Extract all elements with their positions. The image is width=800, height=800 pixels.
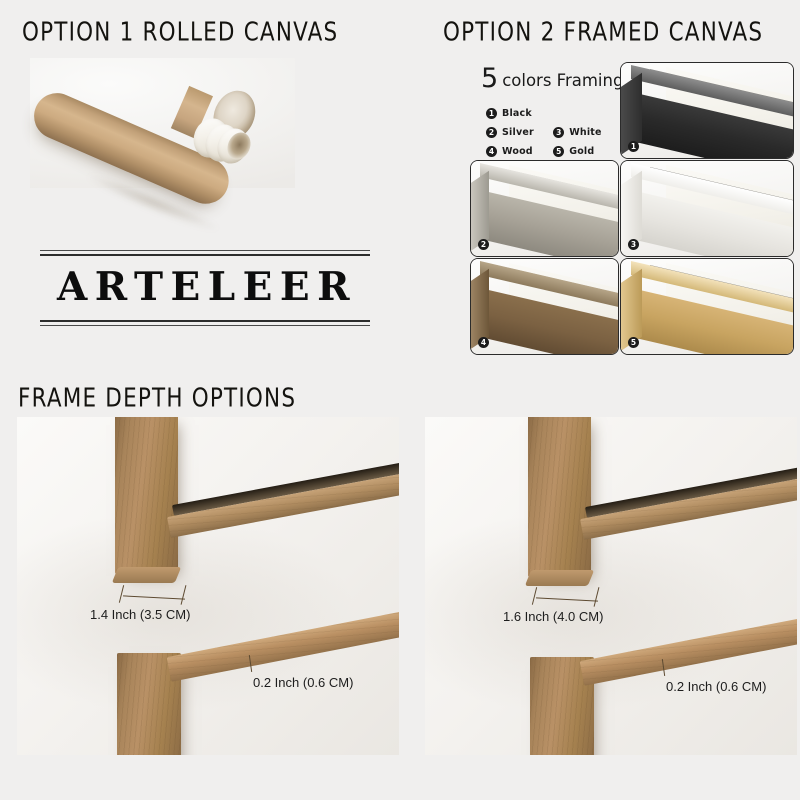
swatch-badge: 5 [628,337,639,348]
frame-corner-illustration [621,161,793,256]
legend-label: Silver [502,127,534,138]
frame-color-legend: 1 Black 2 Silver 3 White 4 Wood 5 Gold [486,108,611,157]
vertical-frame-bar [528,417,591,577]
brand-logo-block: ARTELEER [40,250,370,326]
rail-depth-label-1: 0.2 Inch (0.6 CM) [253,675,353,690]
legend-badge: 4 [486,146,497,157]
legend-item-silver: 2 Silver [486,127,543,138]
frame-swatch-wood[interactable]: 4 [470,258,619,355]
frame-swatch-gold[interactable]: 5 [620,258,794,355]
option2-heading: OPTION 2 FRAMED CANVAS [443,18,763,48]
swatch-badge: 4 [478,337,489,348]
rolled-canvas-photo [30,58,295,188]
vertical-frame-bar [115,417,178,574]
frame-swatch-silver[interactable]: 2 [470,160,619,257]
legend-label: Black [502,108,532,119]
legend-item-wood: 4 Wood [486,146,543,157]
framing-colors-title: 5colors Framing [481,63,623,94]
framing-count: 5 [481,63,498,94]
frame-depth-photo-1: 1.4 Inch (3.5 CM) 0.2 Inch (0.6 CM) [17,417,399,755]
swatch-badge: 2 [478,239,489,250]
legend-item-white: 3 White [553,127,611,138]
legend-badge: 3 [553,127,564,138]
frame-depth-label-2: 1.6 Inch (4.0 CM) [503,609,603,624]
legend-badge: 1 [486,108,497,119]
option1-heading: OPTION 1 ROLLED CANVAS [22,18,338,48]
frame-corner-illustration [471,259,618,354]
brand-wordmark: ARTELEER [40,256,370,320]
legend-label: White [569,127,601,138]
frame-swatch-white[interactable]: 3 [620,160,794,257]
frame-depth-label-1: 1.4 Inch (3.5 CM) [90,607,190,622]
frame-corner-illustration [471,161,618,256]
legend-item-black: 1 Black [486,108,611,119]
frame-corner-illustration [621,63,793,158]
frame-swatch-black[interactable]: 1 [620,62,794,159]
logo-rule-bottom [40,320,370,326]
rail-depth-label-2: 0.2 Inch (0.6 CM) [666,679,766,694]
framing-title-text: colors Framing [502,71,623,90]
frame-corner-illustration [621,259,793,354]
frame-depth-heading: FRAME DEPTH OPTIONS [18,384,296,414]
legend-label: Gold [569,146,594,157]
swatch-badge: 1 [628,141,639,152]
legend-badge: 2 [486,127,497,138]
mailing-tube-illustration [30,58,295,188]
legend-item-gold: 5 Gold [553,146,611,157]
legend-badge: 5 [553,146,564,157]
infographic-canvas: OPTION 1 ROLLED CANVAS ARTELEER OPTIO [0,0,800,800]
swatch-badge: 3 [628,239,639,250]
frame-depth-photo-2: 1.6 Inch (4.0 CM) 0.2 Inch (0.6 CM) [425,417,797,755]
legend-label: Wood [502,146,533,157]
